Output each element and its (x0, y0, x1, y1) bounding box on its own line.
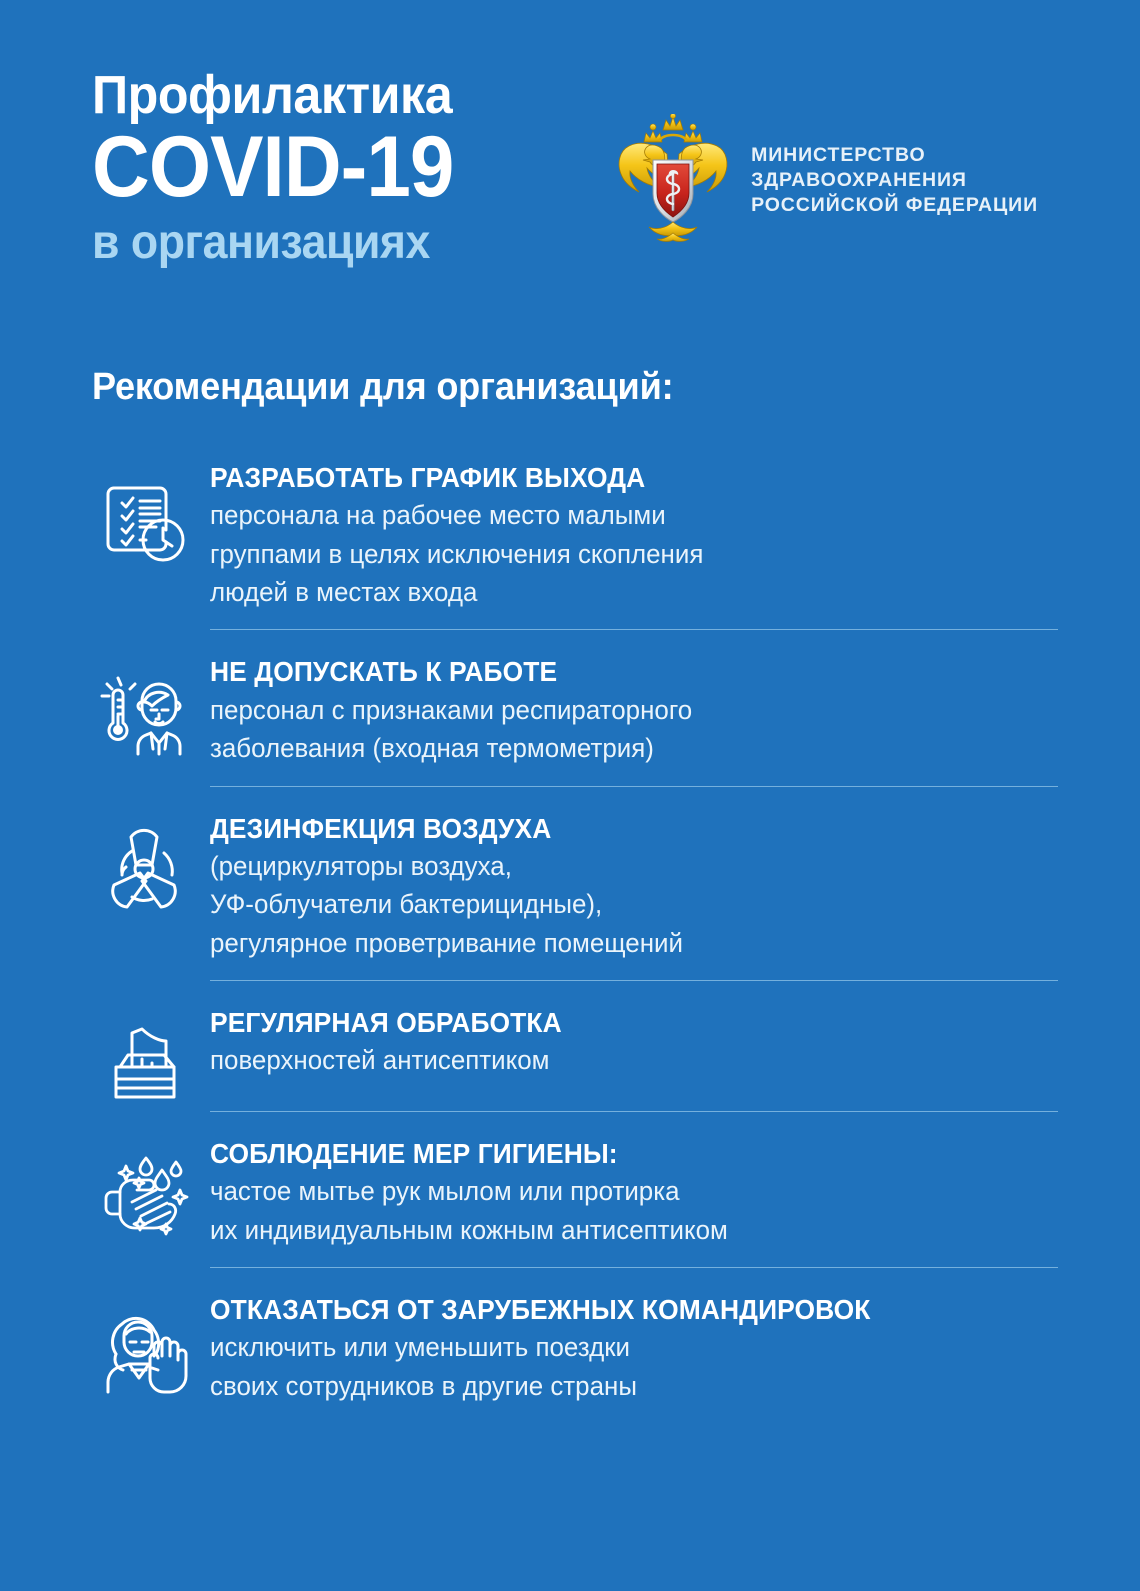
list-item-text-line: исключить или уменьшить поездки (210, 1328, 1034, 1366)
ministry-line-2: ЗДРАВООХРАНЕНИЯ (751, 169, 967, 191)
recommendation-list: РАЗРАБОТАТЬ ГРАФИК ВЫХОДА персонала на р… (78, 452, 1068, 1423)
list-item: РАЗРАБОТАТЬ ГРАФИК ВЫХОДА персонала на р… (78, 452, 1068, 629)
poster-header: Профилактика COVID-19 в организациях (92, 58, 1070, 268)
list-item-text-line: персонала на рабочее место малыми (210, 496, 1034, 534)
russian-double-headed-eagle-emblem (615, 114, 731, 247)
list-item-title: ДЕЗИНФЕКЦИЯ ВОЗДУХА (210, 813, 1034, 845)
ministry-line-3: РОССИЙСКОЙ ФЕДЕРАЦИИ (751, 194, 1038, 216)
list-item-text-line: людей в местах входа (210, 573, 1034, 611)
list-item-text-line: группами в целях исключения скопления (210, 535, 1034, 573)
list-item-text-line: персонал с признаками респираторного (210, 691, 1034, 729)
list-item: НЕ ДОПУСКАТЬ К РАБОТЕ персонал с признак… (78, 629, 1068, 785)
list-item-text: персонал с признаками респираторного заб… (210, 691, 1068, 768)
person-raised-hand-stop-icon (78, 1284, 210, 1398)
list-item-title: РЕГУЛЯРНАЯ ОБРАБОТКА (210, 1007, 1034, 1039)
list-item-title: НЕ ДОПУСКАТЬ К РАБОТЕ (210, 656, 1034, 688)
list-item-text: персонала на рабочее место малыми группа… (210, 496, 1068, 611)
page-title-line2: COVID-19 (92, 124, 453, 212)
fan-propeller-icon (78, 803, 210, 917)
list-item-title: СОБЛЮДЕНИЕ МЕР ГИГИЕНЫ: (210, 1138, 1034, 1170)
clipboard-checklist-clock-icon (78, 452, 210, 566)
ministry-line-1: МИНИСТЕРСТВО (751, 144, 925, 166)
list-item-body: ДЕЗИНФЕКЦИЯ ВОЗДУХА (рециркуляторы возду… (210, 803, 1068, 980)
list-item-title: РАЗРАБОТАТЬ ГРАФИК ВЫХОДА (210, 462, 1034, 494)
poster-root: Профилактика COVID-19 в организациях (0, 0, 1140, 1591)
list-item-body: ОТКАЗАТЬСЯ ОТ ЗАРУБЕЖНЫХ КОМАНДИРОВОК ис… (210, 1284, 1068, 1423)
list-item-text-line: (рециркуляторы воздуха, (210, 847, 1034, 885)
page-title-line3: в организациях (92, 218, 453, 268)
list-item-text: поверхностей антисептиком (210, 1041, 1068, 1079)
list-item: ДЕЗИНФЕКЦИЯ ВОЗДУХА (рециркуляторы возду… (78, 786, 1068, 980)
list-item-text-line: своих сотрудников в другие страны (210, 1367, 1034, 1405)
title-block: Профилактика COVID-19 в организациях (92, 58, 481, 268)
tissue-box-icon (78, 997, 210, 1111)
list-item-text-line: заболевания (входная термометрия) (210, 729, 1034, 767)
list-item-text-line: регулярное проветривание помещений (210, 924, 1034, 962)
list-item-text-line: их индивидуальным кожным антисептиком (210, 1211, 1034, 1249)
list-item-body: РАЗРАБОТАТЬ ГРАФИК ВЫХОДА персонала на р… (210, 452, 1068, 629)
list-item-text-line: поверхностей антисептиком (210, 1041, 1034, 1079)
section-heading: Рекомендации для организаций: (92, 366, 673, 409)
list-item: РЕГУЛЯРНАЯ ОБРАБОТКА поверхностей антисе… (78, 980, 1068, 1111)
list-item-body: НЕ ДОПУСКАТЬ К РАБОТЕ персонал с признак… (210, 646, 1068, 785)
list-item-text: исключить или уменьшить поездки своих со… (210, 1328, 1068, 1405)
list-item: ОТКАЗАТЬСЯ ОТ ЗАРУБЕЖНЫХ КОМАНДИРОВОК ис… (78, 1267, 1068, 1423)
list-item: СОБЛЮДЕНИЕ МЕР ГИГИЕНЫ: частое мытье рук… (78, 1111, 1068, 1267)
list-item-text: частое мытье рук мылом или протирка их и… (210, 1172, 1068, 1249)
list-item-body: РЕГУЛЯРНАЯ ОБРАБОТКА поверхностей антисе… (210, 997, 1068, 1098)
page-title-line1: Профилактика (92, 68, 453, 122)
thermometer-person-icon (78, 646, 210, 760)
ministry-name: МИНИСТЕРСТВО ЗДРАВООХРАНЕНИЯ РОССИЙСКОЙ … (751, 143, 1038, 218)
list-item-text-line: частое мытье рук мылом или протирка (210, 1172, 1034, 1210)
list-item-body: СОБЛЮДЕНИЕ МЕР ГИГИЕНЫ: частое мытье рук… (210, 1128, 1068, 1267)
list-item-text: (рециркуляторы воздуха, УФ-облучатели ба… (210, 847, 1068, 962)
washing-hands-icon (78, 1128, 210, 1242)
list-item-title: ОТКАЗАТЬСЯ ОТ ЗАРУБЕЖНЫХ КОМАНДИРОВОК (210, 1294, 1034, 1326)
list-item-text-line: УФ-облучатели бактерицидные), (210, 885, 1034, 923)
ministry-logo: МИНИСТЕРСТВО ЗДРАВООХРАНЕНИЯ РОССИЙСКОЙ … (615, 58, 1038, 247)
